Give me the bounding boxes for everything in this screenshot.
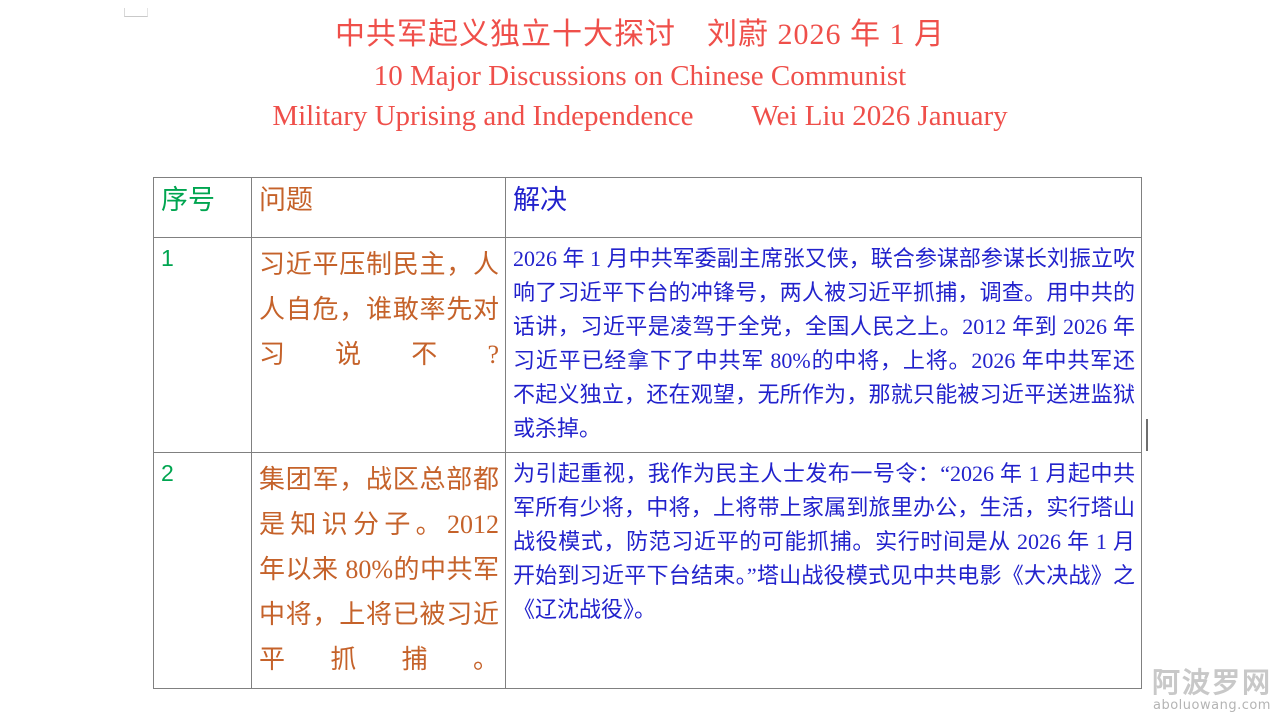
row-index: 2 (154, 453, 252, 689)
column-header-problem: 问题 (252, 178, 506, 238)
title-english-line-1: 10 Major Discussions on Chinese Communis… (0, 56, 1280, 96)
discussion-table: 序号 问题 解决 1 习近平压制民主，人人自危，谁敢率先对习说不? 2026 年… (153, 177, 1142, 689)
table-row: 1 习近平压制民主，人人自危，谁敢率先对习说不? 2026 年 1 月中共军委副… (154, 238, 1142, 453)
row-problem: 集团军，战区总部都是知识分子。2012 年以来 80%的中共军中将，上将已被习近… (252, 453, 506, 689)
title-english-line-2: Military Uprising and Independence Wei L… (0, 96, 1280, 136)
title-chinese: 中共军起义独立十大探讨 刘蔚 2026 年 1 月 (0, 14, 1280, 56)
watermark: 阿波罗网 aboluowang.com (1152, 668, 1272, 714)
table-edge-marker (1146, 419, 1148, 451)
row-solution: 2026 年 1 月中共军委副主席张又侠，联合参谋部参谋长刘振立吹响了习近平下台… (506, 238, 1142, 453)
page-title: 中共军起义独立十大探讨 刘蔚 2026 年 1 月 10 Major Discu… (0, 14, 1280, 136)
row-index: 1 (154, 238, 252, 453)
column-header-solution: 解决 (506, 178, 1142, 238)
column-header-index: 序号 (154, 178, 252, 238)
table-header-row: 序号 问题 解决 (154, 178, 1142, 238)
watermark-chinese: 阿波罗网 (1152, 668, 1272, 698)
row-solution: 为引起重视，我作为民主人士发布一号令：“2026 年 1 月起中共军所有少将，中… (506, 453, 1142, 689)
watermark-domain: aboluowang.com (1152, 698, 1272, 714)
row-problem: 习近平压制民主，人人自危，谁敢率先对习说不? (252, 238, 506, 453)
table-row: 2 集团军，战区总部都是知识分子。2012 年以来 80%的中共军中将，上将已被… (154, 453, 1142, 689)
